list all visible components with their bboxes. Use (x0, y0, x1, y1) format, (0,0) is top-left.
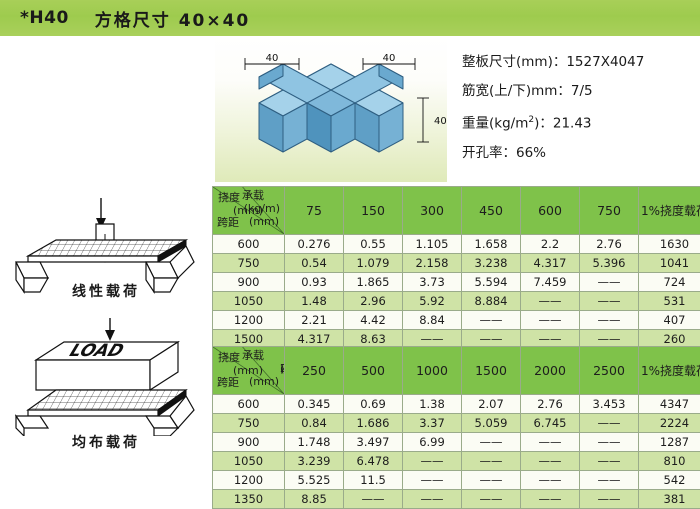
cell-deflection-4: 7.459 (521, 273, 580, 292)
table-row: 7500.541.0792.1583.2384.3175.3961041 (213, 254, 700, 273)
cell-deflection-2: —— (403, 471, 462, 490)
cell-deflection-load: 4347 (639, 395, 700, 414)
cell-deflection-5: —— (580, 273, 639, 292)
cell-deflection-0: 0.345 (285, 395, 344, 414)
cell-deflection-5: —— (580, 471, 639, 490)
cell-span: 900 (213, 433, 285, 452)
cell-deflection-4: —— (521, 452, 580, 471)
col-head-deflection-load: 1%挠度载荷 (639, 347, 700, 395)
cell-deflection-load: 542 (639, 471, 700, 490)
cell-deflection-1: —— (344, 490, 403, 509)
dim-top-right-text: 40 (383, 53, 396, 64)
col-head-0: 250 (285, 347, 344, 395)
corner-span-unit: (mm) (249, 216, 279, 227)
col-head-5: 750 (580, 187, 639, 235)
cell-deflection-2: 1.38 (403, 395, 462, 414)
corner-load-label: 承载 (242, 350, 264, 361)
cell-deflection-2: 2.158 (403, 254, 462, 273)
grating-3d-diagram: 40 40 40 (215, 36, 447, 182)
cell-deflection-0: 1.748 (285, 433, 344, 452)
cell-deflection-3: —— (462, 471, 521, 490)
cell-deflection-1: 3.497 (344, 433, 403, 452)
cell-deflection-1: 1.686 (344, 414, 403, 433)
cell-deflection-2: 6.99 (403, 433, 462, 452)
cell-deflection-2: —— (403, 490, 462, 509)
cell-deflection-0: 3.239 (285, 452, 344, 471)
cell-deflection-0: 8.85 (285, 490, 344, 509)
cell-deflection-1: 6.478 (344, 452, 403, 471)
page-header-band: *H40 方格尺寸 40×40 (0, 0, 700, 36)
cell-deflection-4: 2.76 (521, 395, 580, 414)
table-header-row: 挠度 (mm) 承载 (kg/m2) 跨距 (mm) 250 500 1000 … (213, 347, 700, 395)
table-row: 13508.85——————————381 (213, 490, 700, 509)
cell-deflection-3: 2.07 (462, 395, 521, 414)
corner-deflection-label: 挠度 (218, 192, 240, 203)
cell-span: 1050 (213, 292, 285, 311)
cell-deflection-3: 5.594 (462, 273, 521, 292)
table-row: 6000.2760.551.1051.6582.22.761630 (213, 235, 700, 254)
cell-deflection-3: —— (462, 311, 521, 330)
cell-span: 600 (213, 395, 285, 414)
cell-span: 750 (213, 414, 285, 433)
col-head-3: 450 (462, 187, 521, 235)
dim-top-left-text: 40 (266, 53, 279, 64)
linear-load-caption: 线性载荷 (0, 281, 212, 301)
col-head-0: 75 (285, 187, 344, 235)
col-head-4: 2000 (521, 347, 580, 395)
table-row: 9000.931.8653.735.5947.459——724 (213, 273, 700, 292)
table-header-row: 挠度 (mm) 承载 (kg/m) 跨距 (mm) 75 150 300 450… (213, 187, 700, 235)
corner-span-label: 跨距 (217, 377, 239, 388)
table-row: 6000.3450.691.382.072.763.4534347 (213, 395, 700, 414)
col-head-5: 2500 (580, 347, 639, 395)
cell-deflection-load: 2224 (639, 414, 700, 433)
cell-deflection-load: 810 (639, 452, 700, 471)
line-load-table: 挠度 (mm) 承载 (kg/m) 跨距 (mm) 75 150 300 450… (212, 186, 700, 349)
cell-deflection-3: 5.059 (462, 414, 521, 433)
cell-deflection-3: —— (462, 490, 521, 509)
cell-deflection-2: 3.37 (403, 414, 462, 433)
cell-deflection-load: 1041 (639, 254, 700, 273)
cell-deflection-5: —— (580, 292, 639, 311)
axis-corner-cell: 挠度 (mm) 承载 (kg/m) 跨距 (mm) (213, 187, 285, 235)
cell-deflection-load: 724 (639, 273, 700, 292)
cell-deflection-5: 3.453 (580, 395, 639, 414)
cell-deflection-2: 1.105 (403, 235, 462, 254)
cell-deflection-3: —— (462, 433, 521, 452)
spec-rib-width: 筋宽(上/下)mm：7/5 (462, 77, 700, 106)
cell-deflection-4: 6.745 (521, 414, 580, 433)
corner-span-unit: (mm) (249, 376, 279, 387)
cell-deflection-2: 5.92 (403, 292, 462, 311)
cell-deflection-3: 3.238 (462, 254, 521, 273)
cell-deflection-4: —— (521, 490, 580, 509)
table-row: 7500.841.6863.375.0596.745——2224 (213, 414, 700, 433)
corner-load-label: 承载 (242, 190, 264, 201)
cell-deflection-0: 0.276 (285, 235, 344, 254)
corner-load-unit: (kg/m) (244, 203, 280, 214)
cell-deflection-0: 0.93 (285, 273, 344, 292)
cell-deflection-4: —— (521, 471, 580, 490)
uniform-load-figure: LOAD (0, 318, 212, 436)
col-head-1: 150 (344, 187, 403, 235)
cell-deflection-4: —— (521, 311, 580, 330)
cell-deflection-5: —— (580, 490, 639, 509)
cell-deflection-5: 5.396 (580, 254, 639, 273)
spec-panel-size: 整板尺寸(mm)：1527X4047 (462, 48, 700, 77)
cell-deflection-4: 4.317 (521, 254, 580, 273)
cell-span: 750 (213, 254, 285, 273)
cell-deflection-0: 2.21 (285, 311, 344, 330)
cell-deflection-1: 1.079 (344, 254, 403, 273)
cell-deflection-0: 0.84 (285, 414, 344, 433)
cell-deflection-5: —— (580, 414, 639, 433)
cell-span: 600 (213, 235, 285, 254)
cell-deflection-4: 2.2 (521, 235, 580, 254)
cell-deflection-5: —— (580, 452, 639, 471)
cell-deflection-5: —— (580, 311, 639, 330)
cell-span: 1200 (213, 311, 285, 330)
cell-deflection-load: 1630 (639, 235, 700, 254)
load-text: LOAD (67, 342, 127, 361)
table-row: 12002.214.428.84——————407 (213, 311, 700, 330)
mesh-size-label: 方格尺寸 40×40 (95, 6, 250, 31)
cell-span: 1050 (213, 452, 285, 471)
col-head-4: 600 (521, 187, 580, 235)
table-row: 12005.52511.5————————542 (213, 471, 700, 490)
cell-deflection-1: 4.42 (344, 311, 403, 330)
col-head-2: 300 (403, 187, 462, 235)
cell-deflection-2: 8.84 (403, 311, 462, 330)
cell-deflection-1: 2.96 (344, 292, 403, 311)
cell-span: 1200 (213, 471, 285, 490)
cell-deflection-load: 407 (639, 311, 700, 330)
grating-illustration-panel: 40 40 40 (215, 36, 447, 182)
axis-corner-cell: 挠度 (mm) 承载 (kg/m2) 跨距 (mm) (213, 347, 285, 395)
corner-deflection-label: 挠度 (218, 352, 240, 363)
area-load-table-body: 6000.3450.691.382.072.763.45343477500.84… (213, 395, 700, 509)
cell-deflection-0: 1.48 (285, 292, 344, 311)
product-code: *H40 (20, 8, 69, 28)
cell-deflection-3: —— (462, 452, 521, 471)
spec-weight: 重量(kg/m2)：21.43 (462, 106, 700, 139)
cell-deflection-load: 531 (639, 292, 700, 311)
table-row: 9001.7483.4976.99——————1287 (213, 433, 700, 452)
cell-deflection-1: 0.69 (344, 395, 403, 414)
cell-span: 1350 (213, 490, 285, 509)
table-row: 10501.482.965.928.884————531 (213, 292, 700, 311)
cell-span: 900 (213, 273, 285, 292)
cell-deflection-2: —— (403, 452, 462, 471)
cell-deflection-1: 11.5 (344, 471, 403, 490)
spec-open-area-ratio: 开孔率：66% (462, 139, 700, 168)
cell-deflection-2: 3.73 (403, 273, 462, 292)
cell-deflection-3: 1.658 (462, 235, 521, 254)
cell-deflection-5: —— (580, 433, 639, 452)
cell-deflection-load: 381 (639, 490, 700, 509)
cell-deflection-4: —— (521, 292, 580, 311)
cell-deflection-1: 1.865 (344, 273, 403, 292)
cell-deflection-0: 0.54 (285, 254, 344, 273)
dim-height-text: 40 (434, 116, 447, 127)
col-head-1: 500 (344, 347, 403, 395)
cell-deflection-5: 2.76 (580, 235, 639, 254)
uniform-load-caption: 均布载荷 (0, 432, 212, 452)
cell-deflection-load: 1287 (639, 433, 700, 452)
col-head-2: 1000 (403, 347, 462, 395)
table-row: 10503.2396.478————————810 (213, 452, 700, 471)
cell-deflection-3: 8.884 (462, 292, 521, 311)
specification-list: 整板尺寸(mm)：1527X4047 筋宽(上/下)mm：7/5 重量(kg/m… (462, 48, 700, 168)
col-head-deflection-load: 1%挠度载荷 (639, 187, 700, 235)
cell-deflection-0: 5.525 (285, 471, 344, 490)
cell-deflection-1: 0.55 (344, 235, 403, 254)
area-load-table: 挠度 (mm) 承载 (kg/m2) 跨距 (mm) 250 500 1000 … (212, 346, 700, 509)
corner-span-label: 跨距 (217, 217, 239, 228)
col-head-3: 1500 (462, 347, 521, 395)
cell-deflection-4: —— (521, 433, 580, 452)
line-load-table-body: 6000.2760.551.1051.6582.22.7616307500.54… (213, 235, 700, 349)
